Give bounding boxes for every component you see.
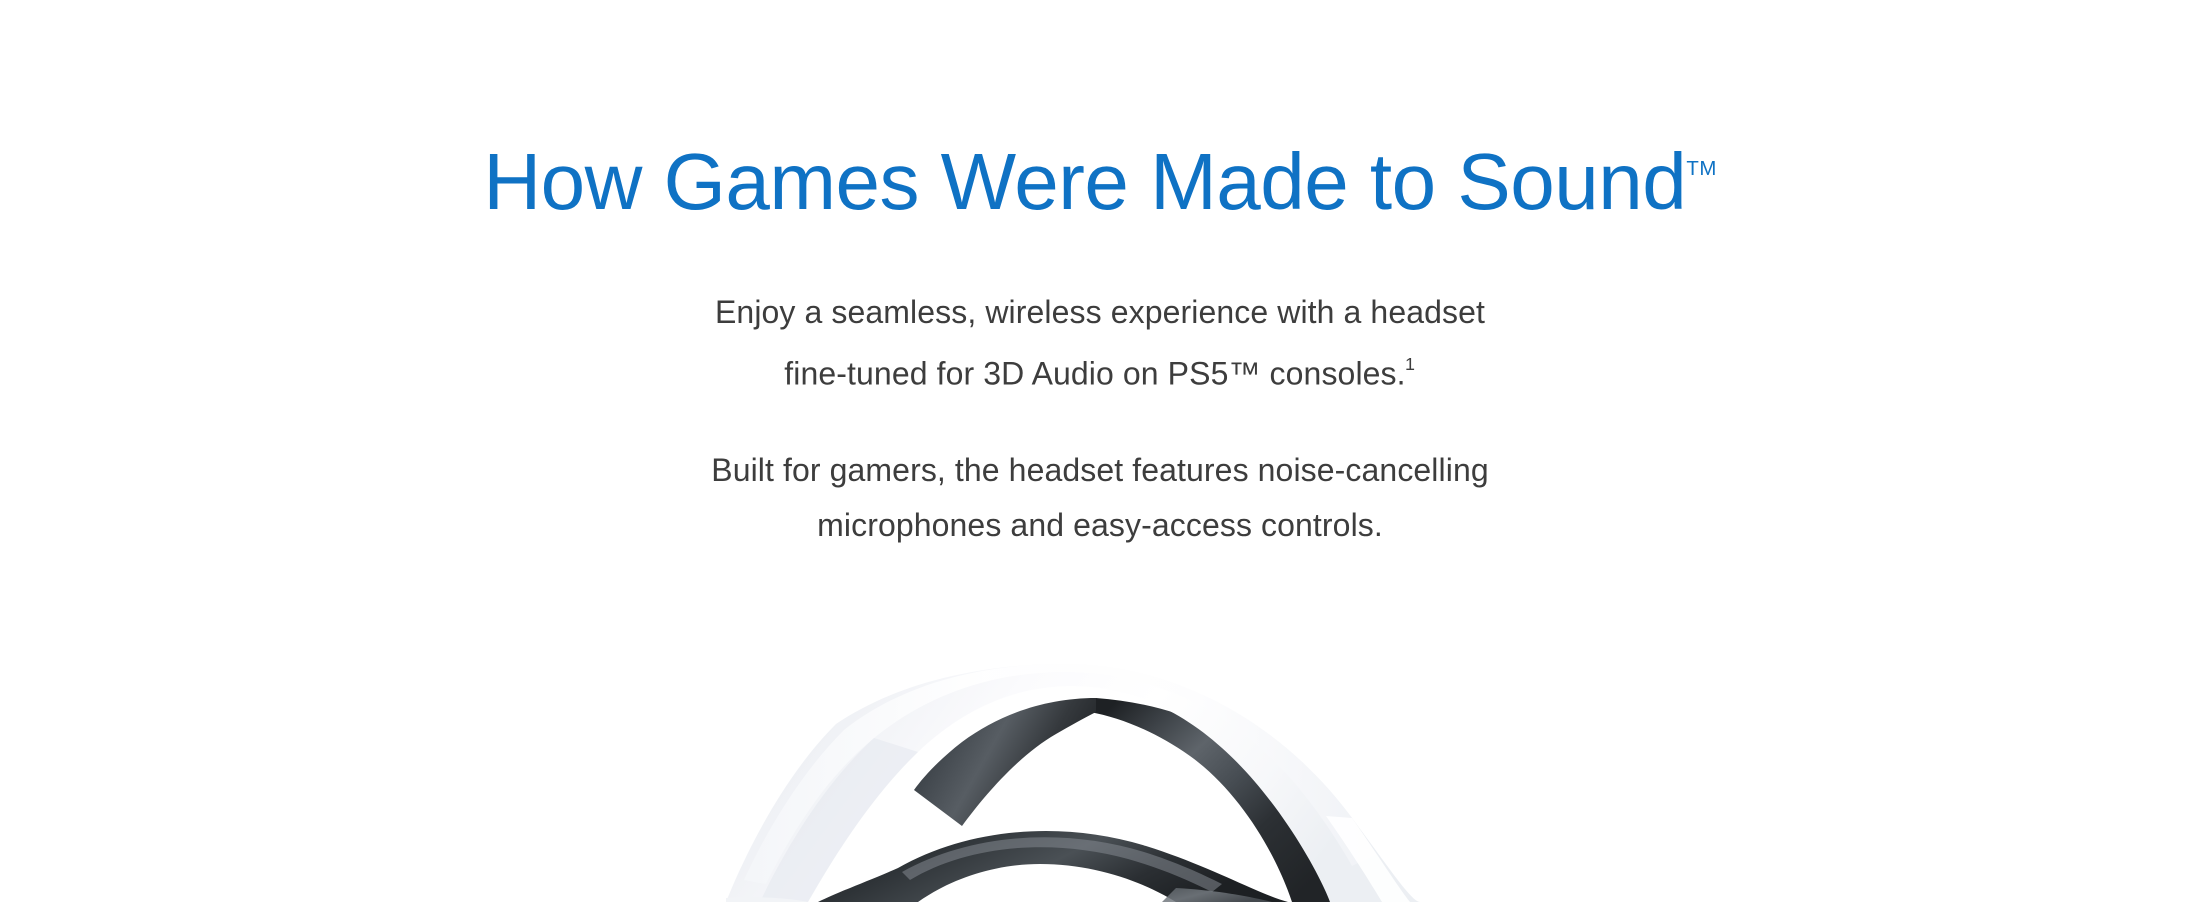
headset-ground-shadow: [726, 897, 808, 902]
page-title: How Games Were Made to SoundTM: [0, 0, 2200, 222]
headset-inner-band-left: [914, 698, 1096, 826]
headset-outer-band-highlight: [744, 664, 1376, 884]
headset-inner-band-right: [1090, 698, 1390, 902]
hero-paragraph-2: Built for gamers, the headset features n…: [0, 402, 2200, 553]
headset-outer-band-shadow: [760, 738, 918, 902]
page-title-text: How Games Were Made to Sound: [483, 137, 1686, 226]
hero-copy: How Games Were Made to SoundTM Enjoy a s…: [0, 0, 2200, 553]
headset-outer-band: [726, 664, 1420, 902]
headset-earcup: [1162, 888, 1272, 902]
trademark-symbol: TM: [1686, 158, 1716, 180]
hero-section: How Games Were Made to SoundTM Enjoy a s…: [0, 0, 2200, 902]
product-image-ps5-pulse-3d-headset: [0, 640, 2200, 902]
headset-cushion-strap: [818, 831, 1288, 902]
footnote-marker: 1: [1405, 354, 1415, 374]
hero-paragraph-1-line-1: Enjoy a seamless, wireless experience wi…: [715, 294, 1485, 330]
headset-cushion-highlight: [902, 837, 1222, 892]
hero-paragraph-1-line-2: fine-tuned for 3D Audio on PS5™ consoles…: [784, 356, 1405, 392]
headset-illustration: [0, 640, 2200, 902]
headset-right-rim: [1326, 816, 1410, 902]
hero-paragraph-1: Enjoy a seamless, wireless experience wi…: [0, 222, 2200, 402]
hero-paragraph-2-line-1: Built for gamers, the headset features n…: [711, 452, 1488, 488]
hero-paragraph-2-line-2: microphones and easy-access controls.: [817, 507, 1383, 543]
